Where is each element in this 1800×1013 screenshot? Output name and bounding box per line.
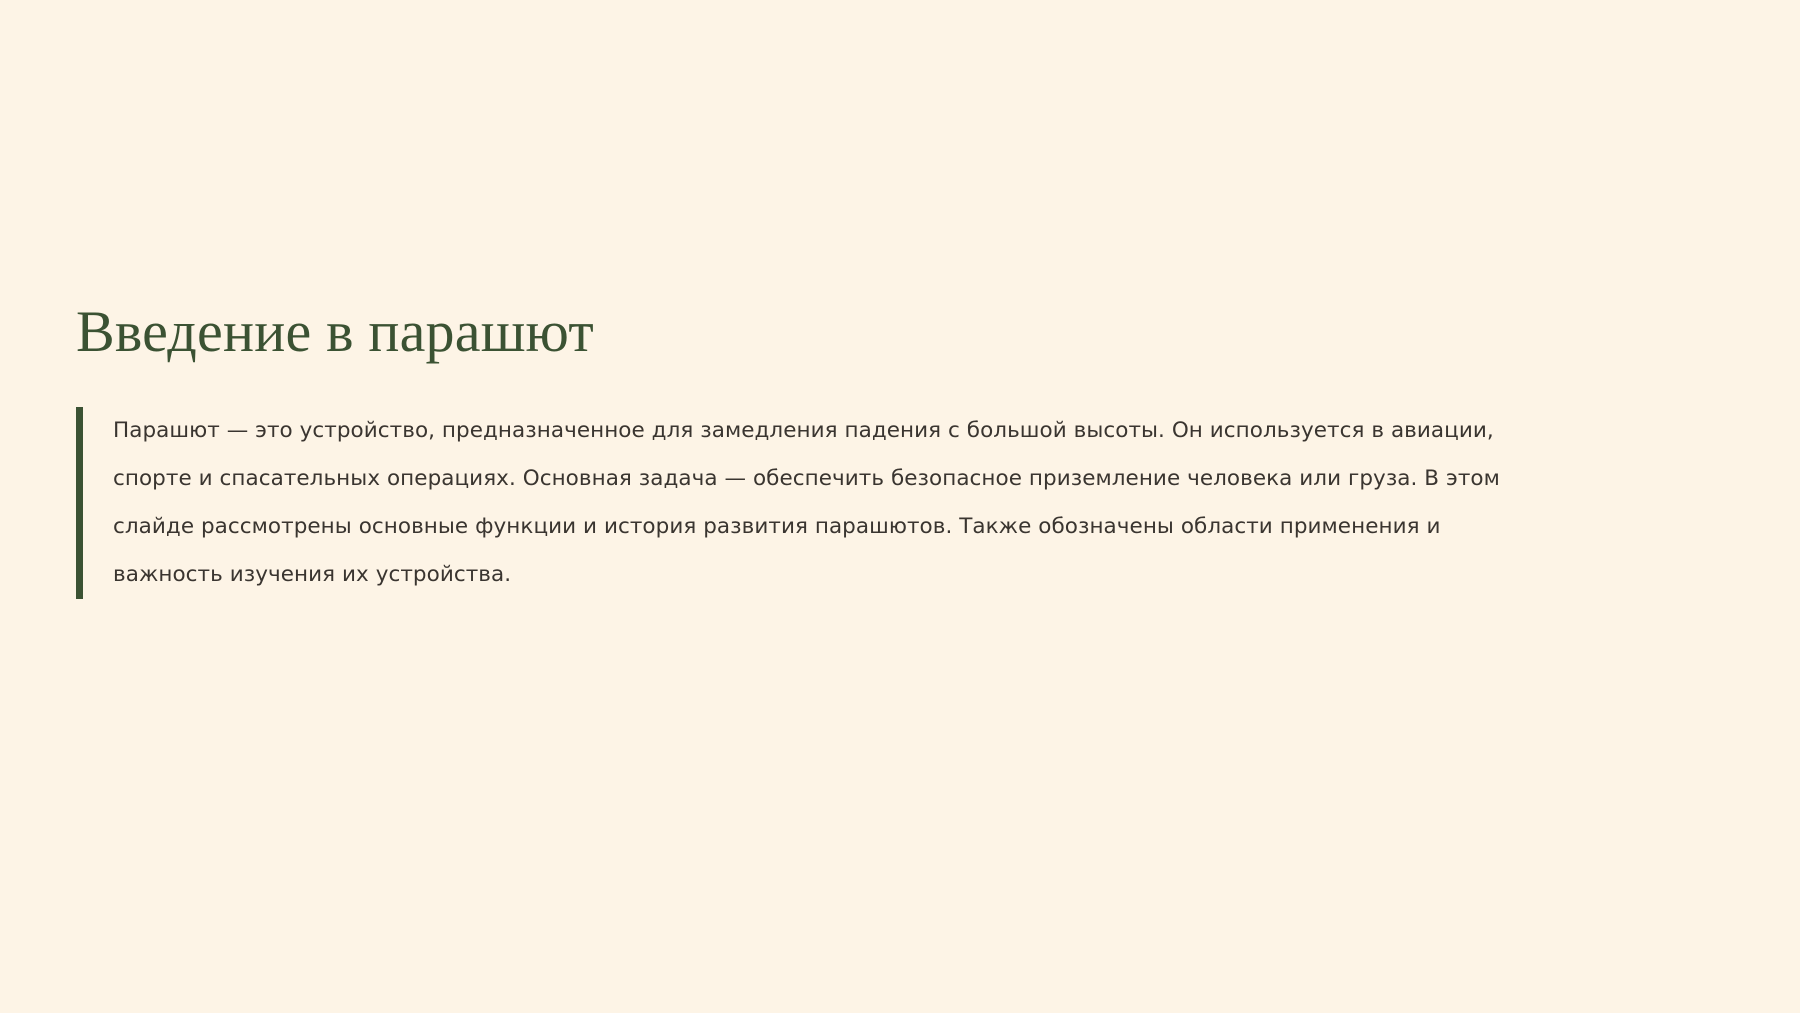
slide-canvas: Введение в парашют Парашют — это устройс… <box>0 0 1800 1013</box>
accent-bar <box>76 407 83 599</box>
body-text-container: Парашют — это устройство, предназначенно… <box>83 407 1736 599</box>
page-title: Введение в парашют <box>76 300 1736 365</box>
slide-content: Введение в парашют Парашют — это устройс… <box>76 300 1736 599</box>
body-paragraph: Парашют — это устройство, предназначенно… <box>113 407 1533 599</box>
quote-block: Парашют — это устройство, предназначенно… <box>76 407 1736 599</box>
